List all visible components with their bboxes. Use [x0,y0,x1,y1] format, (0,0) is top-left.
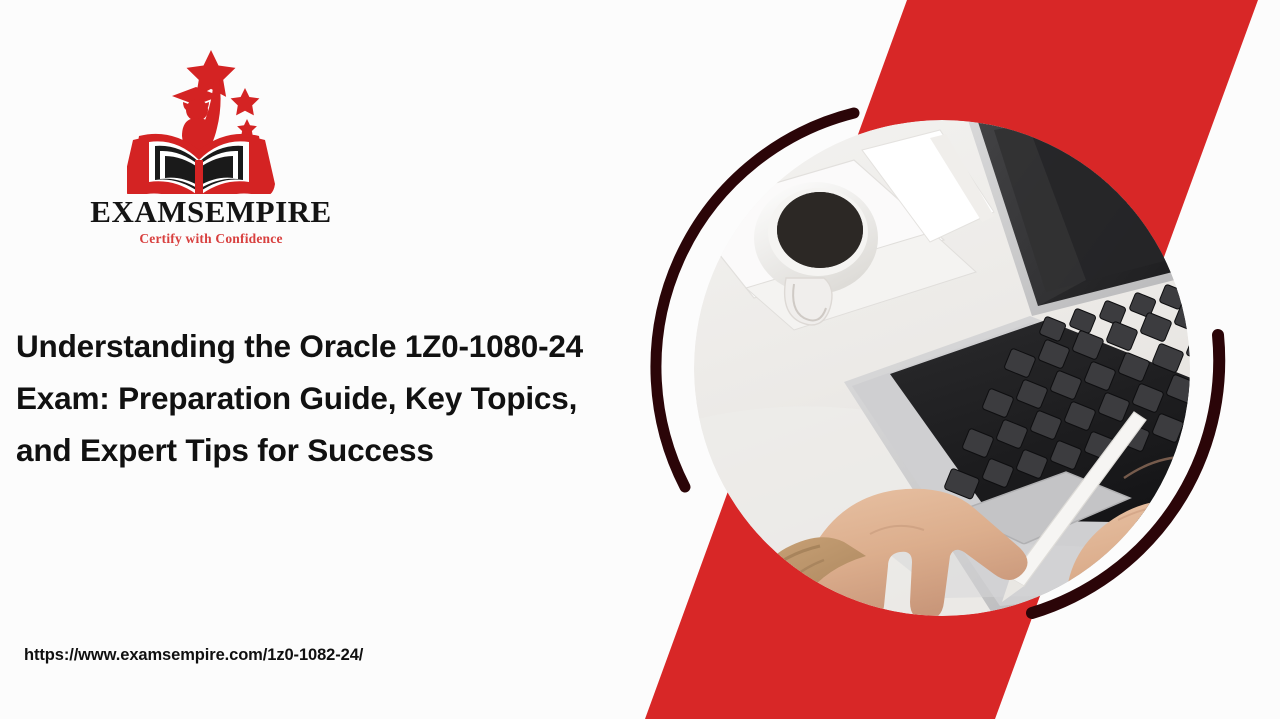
logo-wordmark: EXAMSEMPIRE [86,196,336,228]
hero-photo-circle [694,120,1190,616]
brand-logo[interactable]: EXAMSEMPIRE Certify with Confidence [86,44,336,247]
logo-tagline: Certify with Confidence [86,231,336,247]
page-title: Understanding the Oracle 1Z0-1080-24 Exa… [16,320,626,476]
blog-banner: EXAMSEMPIRE Certify with Confidence Unde… [0,0,1280,719]
laptop-desk-photo [694,120,1190,616]
open-book-graduate-star-logo-icon [127,44,295,194]
footer-url[interactable]: https://www.examsempire.com/1z0-1082-24/ [24,646,363,665]
content-column: EXAMSEMPIRE Certify with Confidence Unde… [0,0,640,719]
